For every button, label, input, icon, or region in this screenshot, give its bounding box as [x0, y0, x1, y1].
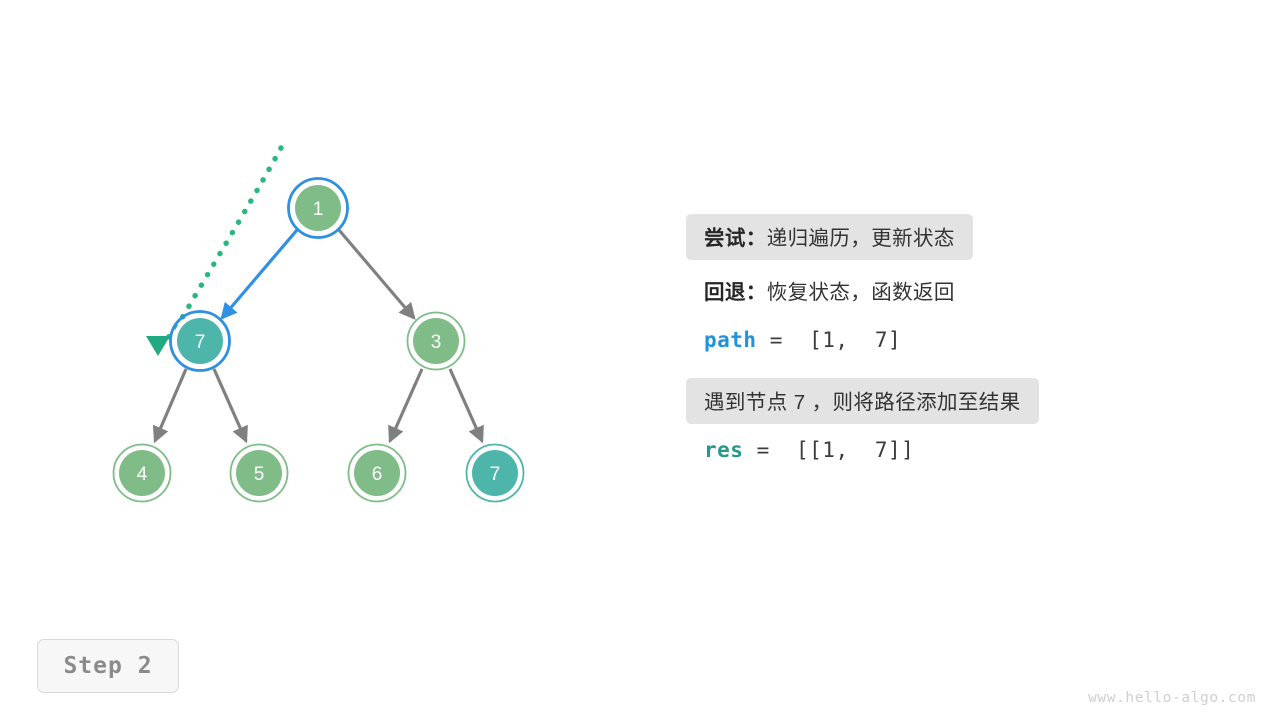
tree-node-1-label: 1 — [313, 199, 324, 220]
tree-node-7-left[interactable]: 7 — [171, 312, 230, 371]
tree-node-4-label: 4 — [137, 464, 148, 485]
path-variable-row: path = [1, 7] — [686, 322, 1246, 360]
res-variable-name: res — [704, 438, 743, 462]
tree-node-3[interactable]: 3 — [408, 313, 465, 370]
edge-7-to-4 — [155, 369, 186, 441]
backtrack-row: 回退：恢复状态，函数返回 — [686, 268, 1246, 314]
note-row: 遇到节点 7 ，则将路径添加至结果 — [686, 378, 1039, 424]
tree-node-1[interactable]: 1 — [289, 179, 348, 238]
tree-node-4[interactable]: 4 — [114, 445, 171, 502]
tree-node-6[interactable]: 6 — [349, 445, 406, 502]
tree-node-3-label: 3 — [431, 332, 442, 353]
backtrack-label: 回退： — [704, 281, 767, 304]
tree-node-5[interactable]: 5 — [231, 445, 288, 502]
try-label: 尝试： — [704, 227, 767, 250]
edge-1-to-7 — [222, 230, 297, 318]
tree-nodes: 1 7 3 4 5 — [114, 179, 524, 502]
path-arrowhead-icon — [146, 336, 170, 356]
edge-3-to-6 — [390, 369, 422, 441]
step-badge: Step 2 — [37, 639, 179, 693]
try-text: 递归遍历，更新状态 — [767, 227, 955, 250]
edge-7-to-5 — [214, 369, 246, 441]
edge-3-to-7 — [450, 369, 482, 441]
tree-node-5-label: 5 — [254, 464, 265, 485]
res-variable-value: = [[1, 7]] — [743, 438, 914, 462]
tree-node-7-right[interactable]: 7 — [467, 445, 524, 502]
tree-node-7-left-label: 7 — [195, 332, 206, 353]
res-variable-row: res = [[1, 7]] — [686, 432, 1246, 470]
tree-node-7-right-label: 7 — [490, 464, 501, 485]
try-row: 尝试：递归遍历，更新状态 — [686, 214, 973, 260]
step-badge-label: Step 2 — [63, 653, 152, 679]
path-variable-value: = [1, 7] — [757, 328, 902, 352]
tree-node-6-label: 6 — [372, 464, 383, 485]
backtrack-text: 恢复状态，函数返回 — [767, 281, 955, 304]
binary-tree-diagram: 1 7 3 4 5 — [0, 0, 660, 560]
explanation-panel: 尝试：递归遍历，更新状态 回退：恢复状态，函数返回 path = [1, 7] … — [686, 214, 1246, 470]
path-variable-name: path — [704, 328, 757, 352]
watermark: www.hello-algo.com — [1088, 690, 1256, 706]
edge-1-to-3 — [339, 230, 414, 318]
note-text: 遇到节点 7 ，则将路径添加至结果 — [704, 391, 1021, 414]
